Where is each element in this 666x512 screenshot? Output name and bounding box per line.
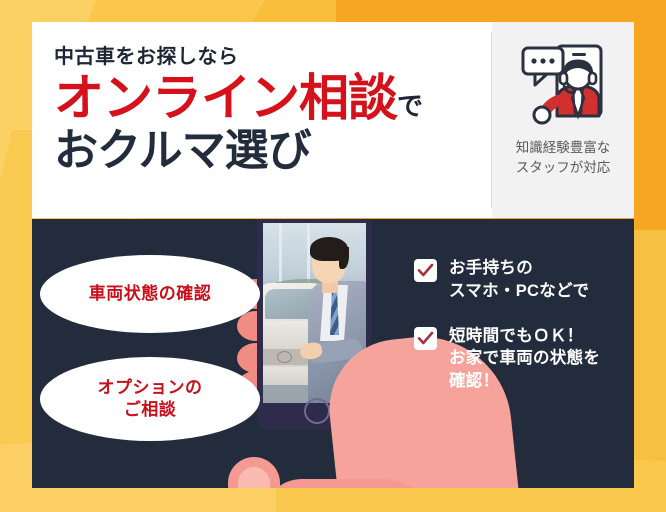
dark-content-panel: 車両状態の確認 オプションのご相談 お手持ちの スマホ・PCなどで (32, 219, 634, 488)
checklist-line: お家で車両の状態を (449, 347, 600, 370)
checklist-line: 確認！ (449, 370, 600, 393)
feature-oval-1: 車両状態の確認 (40, 255, 260, 333)
headline-main-line: オンライン相談で (54, 72, 494, 124)
staff-caption-line1: 知識経験豊富な (516, 138, 611, 158)
headline-group: 中古車をお探しなら オンライン相談で おクルマ選び (54, 32, 494, 175)
staff-caption-line2: スタッフが対応 (516, 158, 611, 178)
feature-oval-2-label: オプションのご相談 (98, 377, 203, 421)
header-card: 中古車をお探しなら オンライン相談で おクルマ選び (32, 22, 634, 218)
headline-main: オンライン相談 (54, 70, 397, 126)
promo-banner: 中古車をお探しなら オンライン相談で おクルマ選び (0, 0, 666, 512)
photo-car-emblem (277, 351, 292, 363)
checklist-item-text: お手持ちの スマホ・PCなどで (449, 257, 589, 303)
checklist-item: お手持ちの スマホ・PCなどで (414, 257, 600, 303)
headline-main-suffix: で (397, 91, 423, 121)
feature-oval-2: オプションのご相談 (40, 357, 260, 441)
checklist-line: 短時間でもＯＫ！ (449, 325, 600, 348)
staff-caption: 知識経験豊富な スタッフが対応 (516, 138, 611, 177)
checklist-item: 短時間でもＯＫ！ お家で車両の状態を 確認！ (414, 325, 600, 393)
staff-badge: 知識経験豊富な スタッフが対応 (492, 22, 634, 218)
phone-home-button (304, 398, 330, 424)
checklist-line: スマホ・PCなどで (449, 280, 589, 303)
feature-oval-1-label: 車両状態の確認 (89, 283, 212, 305)
headline-eyebrow: 中古車をお探しなら (54, 46, 494, 68)
checklist-item-text: 短時間でもＯＫ！ お家で車両の状態を 確認！ (449, 325, 600, 393)
support-agent-screen-icon (517, 38, 609, 131)
headline-sub: おクルマ選び (54, 126, 494, 175)
checklist-line: お手持ちの (449, 257, 589, 280)
check-icon (414, 259, 437, 282)
checklist: お手持ちの スマホ・PCなどで 短時間でもＯＫ！ お家で車両の状態を 確認！ (414, 257, 600, 415)
check-icon (414, 327, 437, 350)
